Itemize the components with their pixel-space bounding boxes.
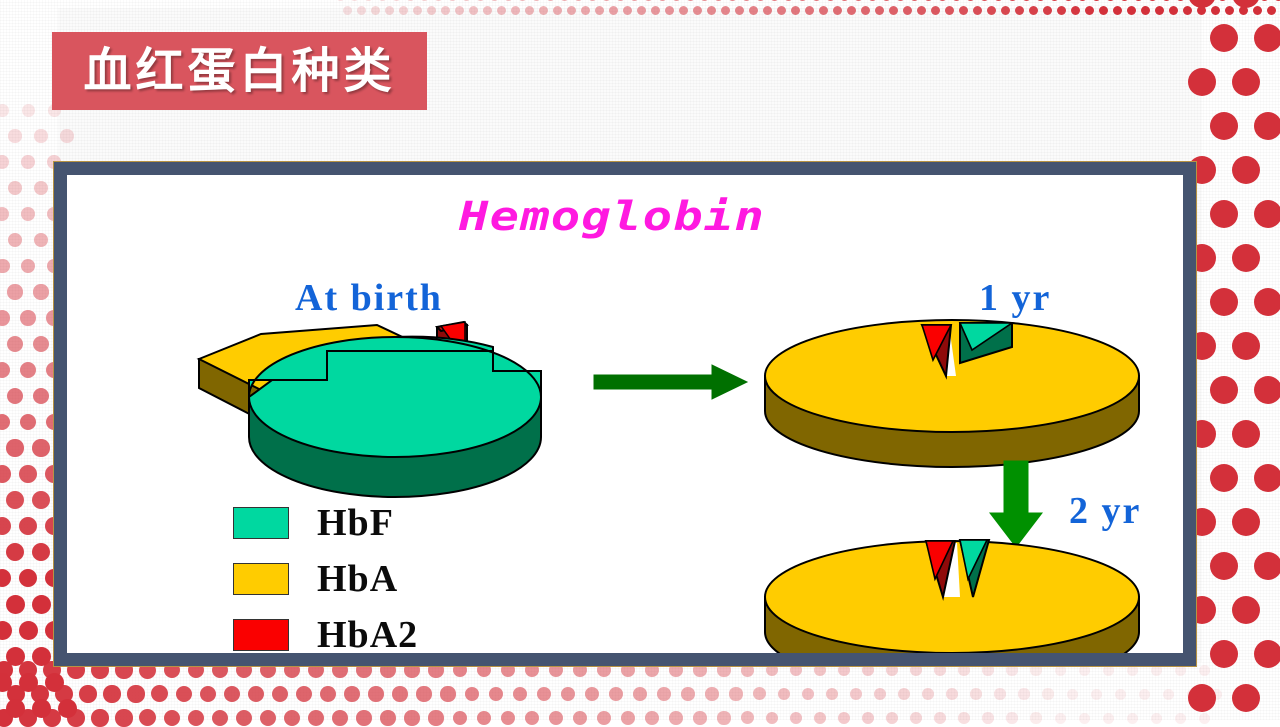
slide-title: 血红蛋白种类: [83, 47, 395, 95]
legend-label-hbf: HbF: [317, 504, 394, 542]
legend-item-hba: HbA: [233, 561, 418, 597]
slide-title-plate: 血红蛋白种类: [52, 32, 427, 110]
pie-at-birth: [199, 322, 541, 497]
legend-swatch-hbf: [233, 507, 289, 539]
legend-swatch-hba: [233, 563, 289, 595]
figure-frame: Hemoglobin At birth 1 yr 2 yr: [53, 161, 1197, 667]
legend-swatch-hba2: [233, 619, 289, 651]
legend-label-hba2: HbA2: [317, 616, 418, 653]
arrow-birth-to-1yr: [594, 365, 747, 399]
legend-item-hbf: HbF: [233, 505, 418, 541]
polka-dot-border-right: [1198, 0, 1280, 720]
slice-at-birth-HbF: [249, 337, 541, 497]
figure-legend: HbF HbA HbA2: [233, 505, 418, 653]
slide-background: 血红蛋白种类 Hemoglobin At birth 1 yr 2 yr: [0, 0, 1280, 720]
pie-two-yr: [765, 540, 1139, 653]
legend-label-hba: HbA: [317, 560, 398, 598]
pie-one-yr: [765, 320, 1139, 467]
polka-dot-border-bottom: [0, 664, 1280, 720]
legend-item-hba2: HbA2: [233, 617, 418, 653]
figure-canvas: Hemoglobin At birth 1 yr 2 yr: [67, 175, 1183, 653]
arrow-1yr-to-2yr: [990, 461, 1042, 547]
